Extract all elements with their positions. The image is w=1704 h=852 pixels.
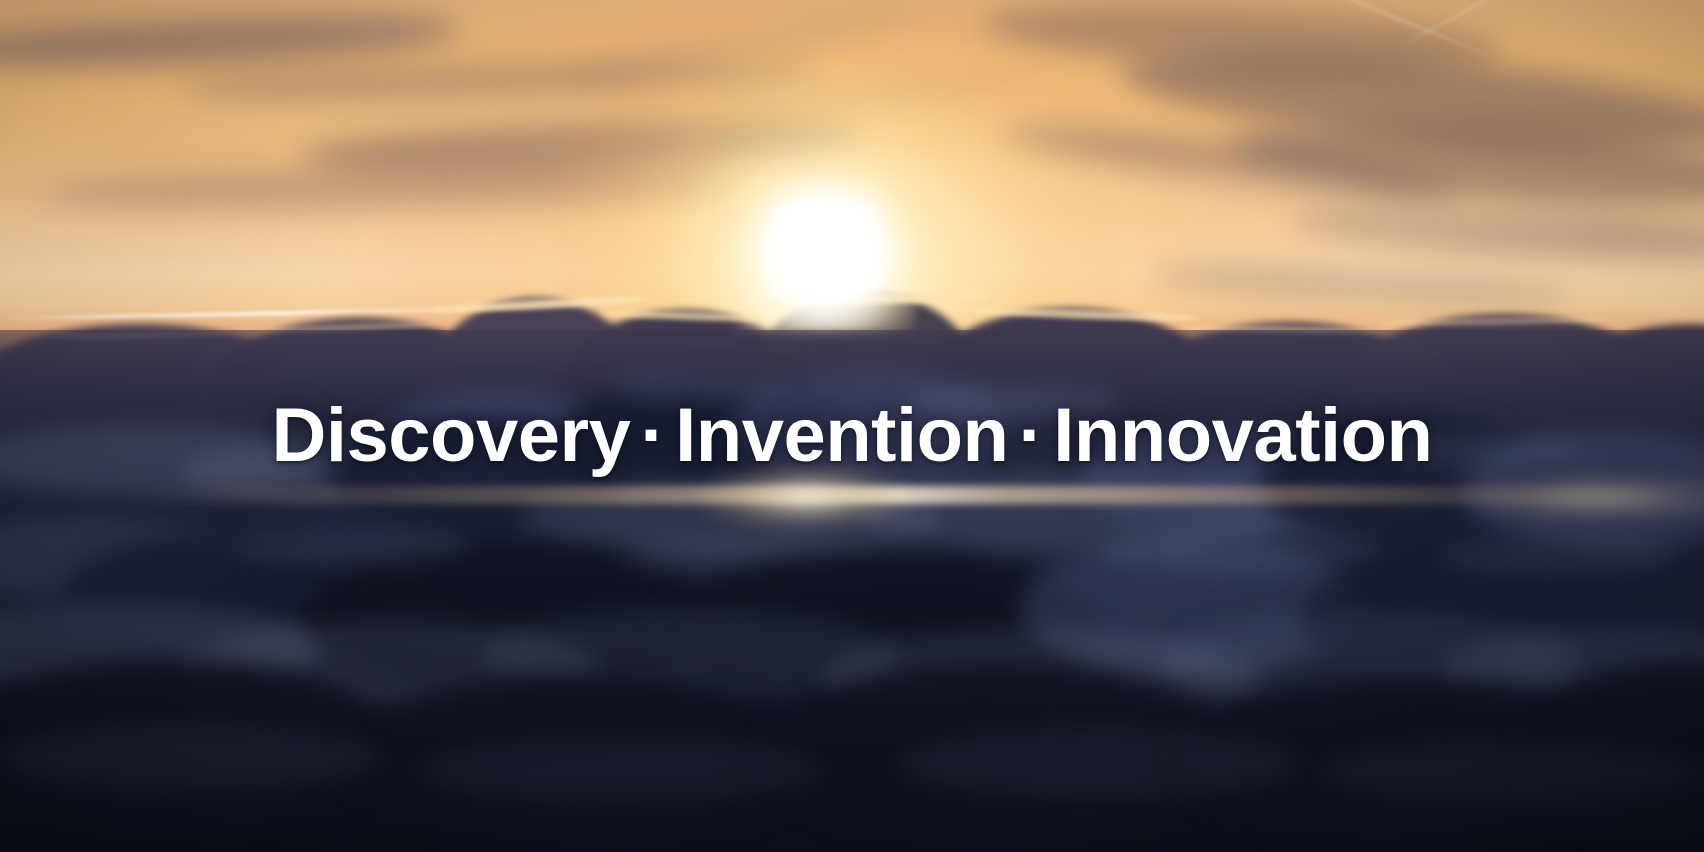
hero-banner: Discovery·Invention·Innovation (0, 0, 1704, 852)
lens-flare-bloom (700, 466, 910, 528)
lower-cloud-deck (0, 330, 1704, 852)
sun-core-highlight (768, 200, 880, 296)
lens-flare-bloom-right (1470, 478, 1704, 518)
